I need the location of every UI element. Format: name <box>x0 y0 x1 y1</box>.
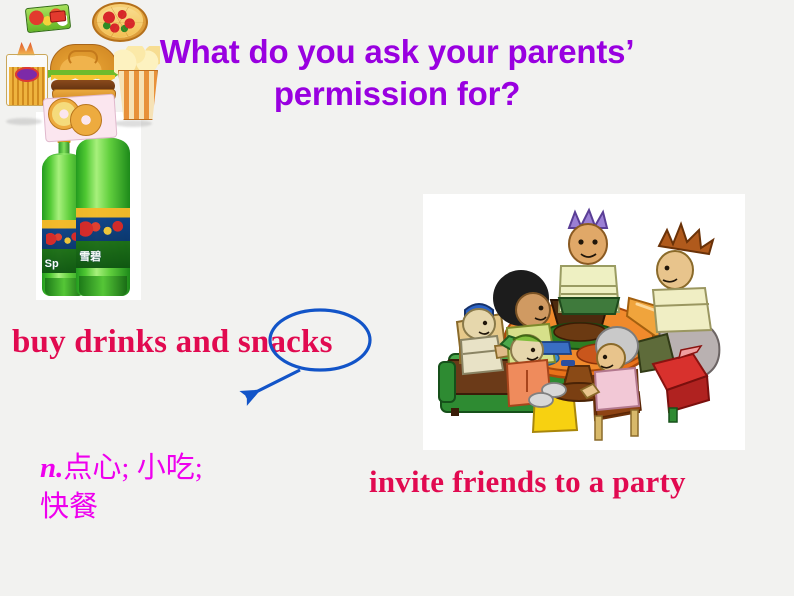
snack-pizza-icon <box>92 2 148 42</box>
snack-shadow <box>6 118 42 125</box>
snack-candy-bar-icon <box>25 4 71 33</box>
snack-shadow <box>114 120 152 127</box>
bottle-body: 雪碧 <box>76 139 130 296</box>
image-party-scene <box>423 194 745 450</box>
sprite-bottle-right: 雪碧 <box>76 118 130 296</box>
arrow-to-gloss <box>246 370 300 397</box>
bottle-label-right: 雪碧 <box>76 208 130 268</box>
gloss-part-of-speech: n. <box>40 452 63 484</box>
person-purple-spiky <box>559 210 619 314</box>
page-title: What do you ask your parents’ permission… <box>97 30 697 116</box>
title-line-1: What do you ask your parents’ <box>97 30 697 74</box>
snack-chips-bag-icon <box>6 42 46 104</box>
snack-popcorn-icon <box>114 46 160 118</box>
vocabulary-gloss: n.点心; 小吃; 快餐 <box>40 411 203 526</box>
image-snacks-cluster <box>0 0 160 148</box>
gloss-definition: 点心; 小吃; 快餐 <box>40 452 203 522</box>
slide-canvas: What do you ask your parents’ permission… <box>0 0 794 596</box>
caption-buy-drinks-and-snacks: buy drinks and snacks <box>12 324 333 361</box>
caption-invite-friends-to-a-party: invite friends to a party <box>369 464 686 500</box>
bottle-brand-latin: Sp <box>45 258 59 270</box>
party-scene-illustration <box>423 194 745 450</box>
bottle-brand-chinese: 雪碧 <box>79 248 101 264</box>
bottle-base <box>79 276 127 296</box>
title-line-2: permission for? <box>97 72 697 116</box>
person-red-spiky <box>653 224 713 332</box>
snack-donuts-icon <box>44 96 116 140</box>
